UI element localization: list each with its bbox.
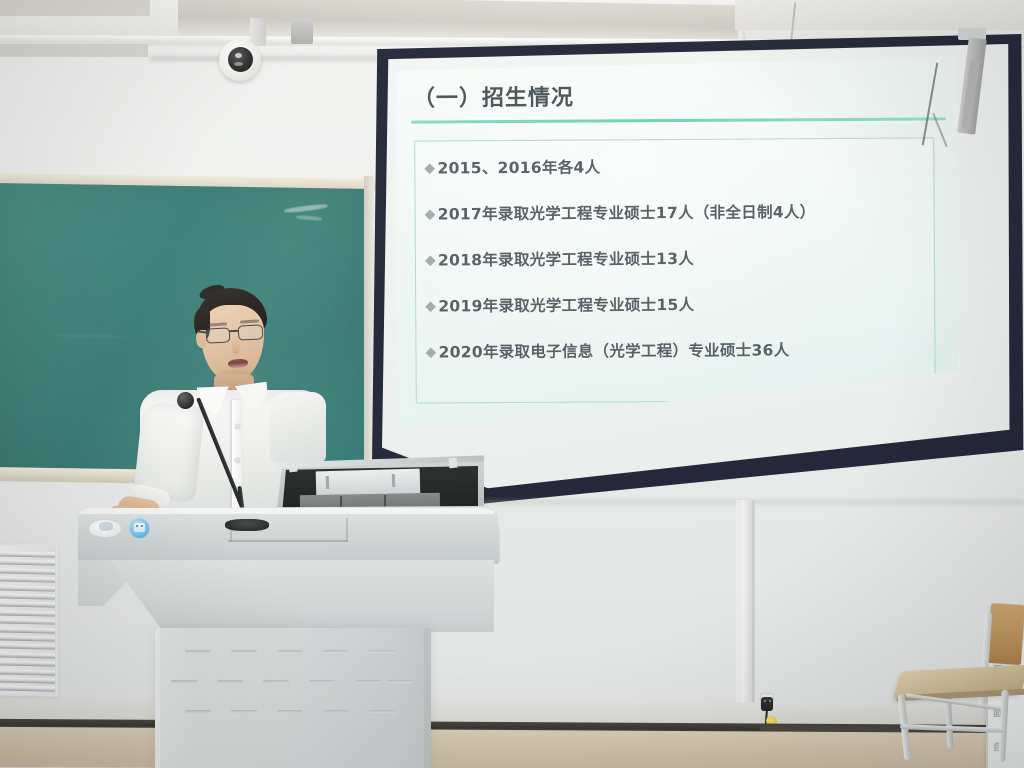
vent-slat (0, 560, 55, 566)
podium-vent-slot (277, 650, 303, 653)
bullet-diamond-icon: ◆ (425, 207, 436, 221)
camera-lens-glint (235, 53, 242, 58)
presenter-nose (232, 340, 240, 354)
presenter-shoulder-right (270, 392, 326, 462)
bullet-text: 2015、2016年各4人 (437, 155, 600, 178)
camera-mount (250, 18, 266, 46)
podium-vent-slot (185, 650, 211, 653)
podium-panel-clip-left (326, 476, 329, 489)
podium-base-edge-right (424, 628, 431, 768)
camera-lens-icon (228, 47, 253, 72)
bullet-diamond-icon: ◆ (425, 299, 436, 313)
podium-base-edge-left (155, 628, 160, 768)
microphone-base (225, 519, 269, 531)
bullet-text: 2019年录取光学工程专业硕士15人 (438, 293, 694, 317)
lecture-hall-photo: （一）招生情况 ◆ 2015、2016年各4人 ◆ 2017年录取光学工程专业硕… (0, 0, 1024, 768)
slide-bullet-item: ◆ 2019年录取光学工程专业硕士15人 (425, 291, 935, 316)
vent-slat (0, 577, 55, 583)
bullet-diamond-icon: ◆ (425, 345, 436, 359)
podium-top-seam-right (346, 518, 348, 542)
podium-vent-slot (171, 680, 197, 683)
plug-hole-right (769, 700, 771, 702)
ceiling-beam-left-lower (0, 44, 148, 57)
vent-slat (0, 627, 55, 633)
vent-slat (0, 635, 55, 641)
plug-hole-left (764, 700, 766, 702)
bullet-text: 2018年录取光学工程专业硕士13人 (438, 247, 694, 271)
vent-slat (0, 602, 55, 608)
blue-badge-dot-right (141, 525, 143, 527)
podium-vent-slot (231, 650, 257, 653)
vent-slat (0, 661, 55, 667)
eyeglasses-lens-right (238, 324, 264, 340)
microphone-icon (177, 392, 194, 409)
podium-body (110, 560, 494, 632)
podium-vent-slot (263, 680, 289, 683)
projected-slide: （一）招生情况 ◆ 2015、2016年各4人 ◆ 2017年录取光学工程专业硕… (391, 57, 960, 431)
podium-vent-slot (277, 710, 303, 713)
podium-vent-slot (231, 710, 257, 713)
vent-slat (0, 686, 55, 692)
power-plug-icon[interactable] (761, 697, 773, 711)
podium-vent-slot (369, 650, 395, 653)
slide-title: （一）招生情况 (413, 77, 925, 112)
podium-vent-slot (323, 710, 349, 713)
slide-bullet-list: ◆ 2015、2016年各4人 ◆ 2017年录取光学工程专业硕士17人（非全日… (424, 153, 935, 386)
ceiling-beam-right (735, 0, 1024, 30)
podium-top-highlight (80, 508, 494, 514)
podium-vent-slot (309, 680, 335, 683)
slide-bullet-item: ◆ 2017年录取光学工程专业硕士17人（非全日制4人） (425, 199, 935, 224)
wall-vent (0, 543, 58, 696)
vent-slat (0, 585, 55, 591)
vent-slat (0, 669, 55, 675)
vent-slat (0, 644, 55, 650)
shirt-button (235, 458, 240, 463)
floor (0, 727, 1024, 768)
podium-top-seam (228, 540, 348, 542)
vent-slat (0, 652, 55, 658)
camera-lens-glint-2 (234, 62, 243, 66)
eyeglasses-lens-left (206, 327, 231, 343)
podium-hinge-left (288, 462, 297, 473)
vent-slat (0, 677, 55, 683)
podium-vent-slot (185, 710, 211, 713)
bullet-text: 2017年录取光学工程专业硕士17人（非全日制4人） (438, 200, 816, 224)
bullet-diamond-icon: ◆ (424, 161, 435, 175)
podium-vent-slot (217, 680, 243, 683)
vent-slat (0, 593, 55, 599)
vent-slat (0, 619, 55, 625)
blue-badge-dot-left (136, 525, 138, 527)
shirt-button (235, 424, 240, 429)
vent-slat (0, 551, 55, 557)
ceiling-bracket-left (291, 18, 313, 44)
podium-vent-slot (387, 680, 413, 683)
slide-bullet-item: ◆ 2018年录取光学工程专业硕士13人 (425, 245, 935, 270)
podium-vent-slot (355, 680, 381, 683)
podium-vent-slot (323, 650, 349, 653)
podium-panel-clip-right (392, 474, 395, 487)
slide-bullet-item: ◆ 2020年录取电子信息（光学工程）专业硕士36人 (425, 337, 935, 362)
slide-bullet-item: ◆ 2015、2016年各4人 (424, 153, 934, 178)
podium-base (155, 628, 431, 768)
podium-vent-slot (369, 710, 395, 713)
bullet-text: 2020年录取电子信息（光学工程）专业硕士36人 (439, 338, 790, 362)
chair-backrest (987, 603, 1024, 665)
inspection-sticker-mark (99, 522, 113, 531)
vent-slat (0, 568, 55, 574)
vent-slat (0, 610, 55, 616)
bullet-diamond-icon: ◆ (425, 253, 436, 267)
podium-hinge-right (448, 458, 457, 469)
ceiling-beam-left-upper (0, 0, 150, 16)
